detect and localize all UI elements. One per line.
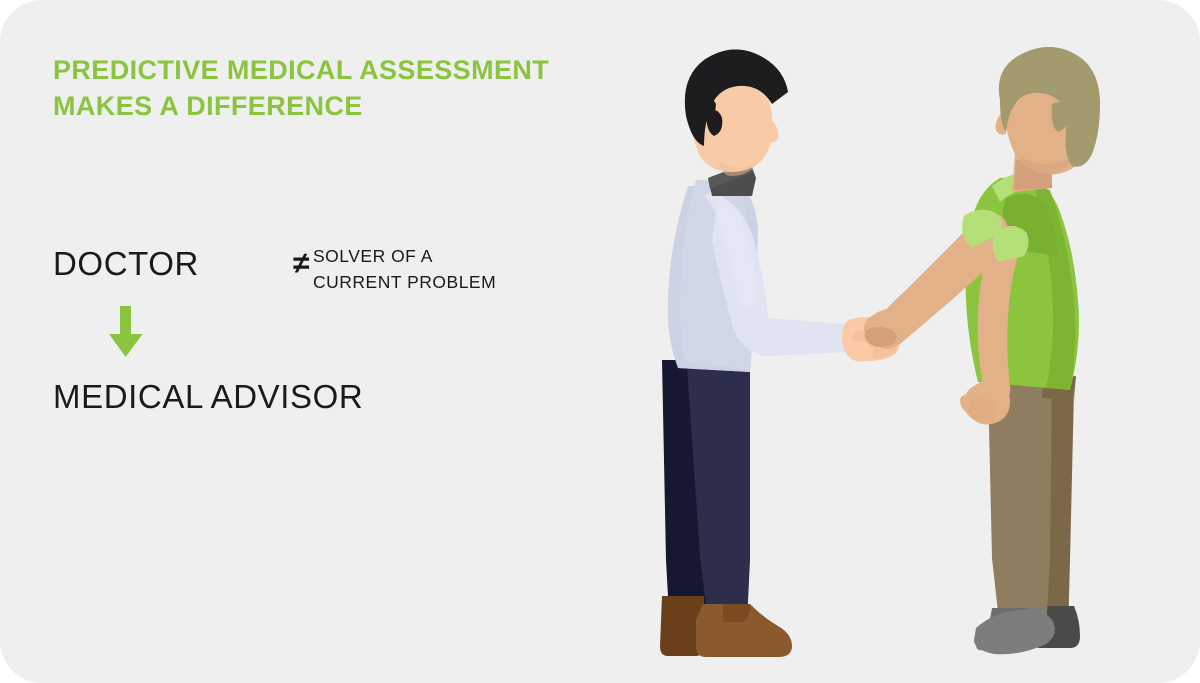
doctor-figure	[660, 49, 900, 657]
comparison-term-doctor: DOCTOR	[53, 243, 199, 285]
page-title: PREDICTIVE MEDICAL ASSESSMENT MAKES A DI…	[53, 52, 613, 124]
comparison-row: DOCTOR ≠ SOLVER OF A CURRENT PROBLEM	[53, 243, 573, 293]
comparison-term-medical-advisor: MEDICAL ADVISOR	[53, 376, 363, 418]
two-men-handshake-illustration	[600, 0, 1200, 683]
comparison-term-solver: SOLVER OF A CURRENT PROBLEM	[313, 244, 563, 295]
illustration-card: PREDICTIVE MEDICAL ASSESSMENT MAKES A DI…	[0, 0, 1200, 683]
patient-figure	[864, 47, 1100, 654]
arrow-down-icon	[104, 306, 148, 358]
not-equal-icon: ≠	[293, 243, 309, 285]
